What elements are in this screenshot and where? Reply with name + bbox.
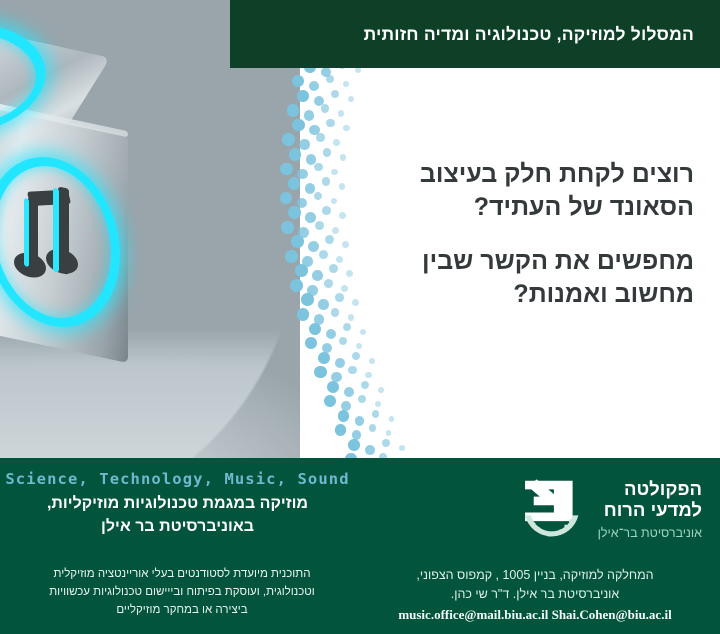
biu-emblem-icon: [514, 475, 588, 547]
program-hebrew-line-2: באוניברסיטת בר אילן: [0, 515, 355, 538]
program-block: Science, Technology, Music, Sound מוזיקה…: [0, 470, 355, 538]
contact-block: המחלקה למוזיקה, בניין 1005 , קמפוס הצפונ…: [360, 566, 710, 625]
footer-top-row: Science, Technology, Music, Sound מוזיקה…: [0, 458, 720, 568]
header-underline: [230, 65, 720, 68]
faculty-line-1: הפקולטה: [598, 479, 702, 500]
headline-questions: רוצים לקחת חלק בעיצוב הסאונד של העתיד? מ…: [364, 158, 694, 310]
footer-bottom-row: התוכנית מיועדת לסטודנטים בעלי אוריינטציה…: [0, 568, 720, 634]
header-title: המסלול למוזיקה, טכנולוגיה ומדיה חזותית: [364, 24, 694, 45]
logo-text-block: הפקולטה למדעי הרוח אוניברסיטת בר־אילן: [598, 479, 702, 542]
contact-line-1: המחלקה למוזיקה, בניין 1005 , קמפוס הצפונ…: [360, 566, 710, 585]
university-name: אוניברסיטת בר־אילן: [598, 523, 702, 543]
contact-line-2: אוניברסיטת בר אילן. ד"ר שי כהן.: [360, 585, 710, 604]
blurb-line-2: וטכנולוגית, ועוסקת בפיתוח ובייישום טכנול…: [8, 584, 356, 602]
poster-root: המסלול למוזיקה, טכנולוגיה ומדיה חזותית ר…: [0, 0, 720, 634]
blurb-line-1: התוכנית מיועדת לסטודנטים בעלי אוריינטציה…: [8, 566, 356, 584]
footer-section: Science, Technology, Music, Sound מוזיקה…: [0, 458, 720, 634]
program-blurb: התוכנית מיועדת לסטודנטים בעלי אוריינטציה…: [8, 566, 356, 619]
biu-logo: הפקולטה למדעי הרוח אוניברסיטת בר־אילן: [472, 472, 702, 550]
program-hebrew-line-1: מוזיקה במגמת טכנולוגיות מוזיקליות,: [0, 492, 355, 515]
blurb-line-3: ביצירה או במחקר מוזיקליים: [8, 602, 356, 620]
question-2: מחפשים את הקשר שבין מחשוב ואמנות?: [364, 245, 694, 310]
metallic-cube: [0, 18, 230, 358]
contact-emails[interactable]: music.office@mail.biu.ac.il Shai.Cohen@b…: [360, 605, 710, 625]
header-band: המסלול למוזיקה, טכנולוגיה ומדיה חזותית: [230, 0, 720, 68]
faculty-line-2: למדעי הרוח: [598, 500, 702, 521]
music-note-front-icon: [16, 178, 94, 299]
program-english-tagline: Science, Technology, Music, Sound: [0, 470, 355, 488]
question-1: רוצים לקחת חלק בעיצוב הסאונד של העתיד?: [364, 158, 694, 223]
